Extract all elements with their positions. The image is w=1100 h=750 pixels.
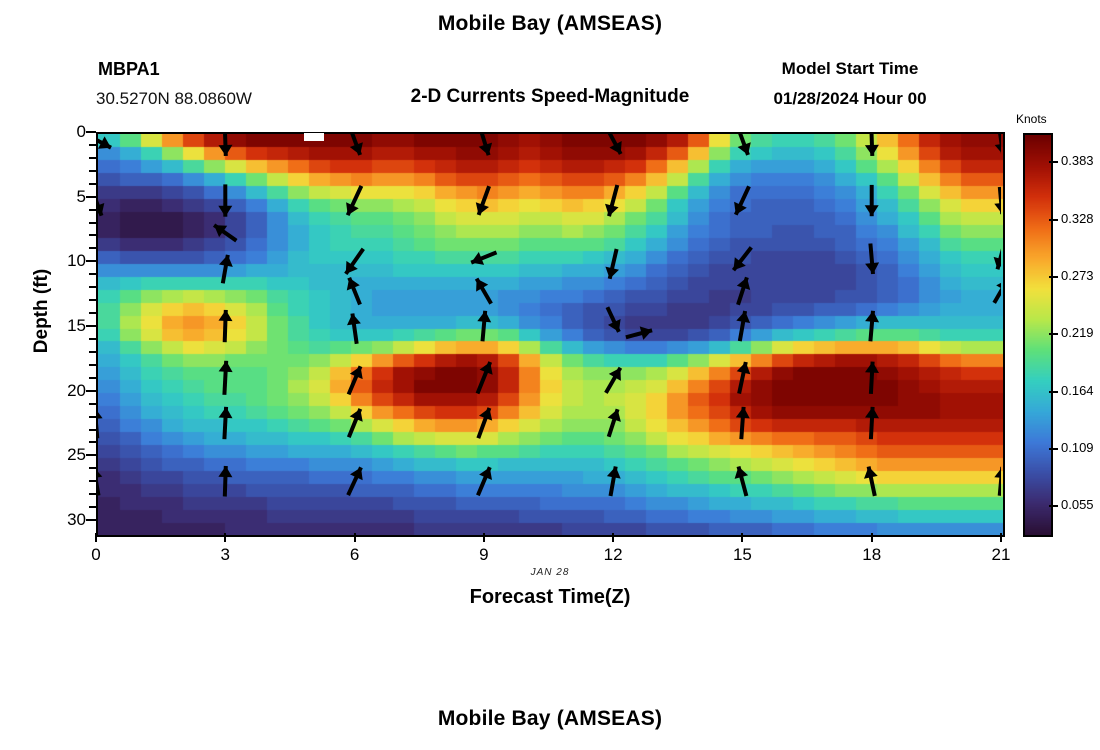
colorbar-tick-label: 0.273 xyxy=(1061,268,1094,283)
x-axis-tick-label: 15 xyxy=(712,545,772,565)
y-axis-minor-tick xyxy=(89,493,96,495)
y-axis-minor-tick xyxy=(89,338,96,340)
heatmap-plot-area xyxy=(96,132,1005,537)
y-axis-tick-mark xyxy=(86,196,96,198)
y-axis-tick-label: 5 xyxy=(40,187,86,207)
colorbar-tick-label: 0.055 xyxy=(1061,497,1094,512)
y-axis-minor-tick xyxy=(89,209,96,211)
x-axis-tick-label: 18 xyxy=(842,545,902,565)
x-axis-tick-label: 21 xyxy=(971,545,1031,565)
y-axis-minor-tick xyxy=(89,312,96,314)
y-axis-label: Depth (ft) xyxy=(31,221,53,401)
colorbar-tick-mark xyxy=(1049,448,1058,450)
x-axis-tick-label: 9 xyxy=(454,545,514,565)
y-axis-tick-label: 30 xyxy=(40,510,86,530)
y-axis-minor-tick xyxy=(89,222,96,224)
y-axis-minor-tick xyxy=(89,441,96,443)
y-axis-minor-tick xyxy=(89,377,96,379)
colorbar-tick-group: 0.0550.1090.1640.2190.2730.3280.383 xyxy=(1049,133,1099,533)
y-axis-tick-mark xyxy=(86,260,96,262)
y-axis-minor-tick xyxy=(89,234,96,236)
y-axis-tick-label: 0 xyxy=(40,122,86,142)
y-axis-tick-mark xyxy=(86,519,96,521)
bottom-title: Mobile Bay (AMSEAS) xyxy=(0,707,1100,731)
y-axis-minor-tick xyxy=(89,480,96,482)
colorbar-tick-mark xyxy=(1049,276,1058,278)
x-axis-tick-label: 12 xyxy=(583,545,643,565)
colorbar-tick-mark xyxy=(1049,391,1058,393)
y-axis-minor-tick xyxy=(89,157,96,159)
y-axis-minor-tick xyxy=(89,506,96,508)
station-id: MBPA1 xyxy=(98,59,160,80)
date-sublabel: JAN 28 xyxy=(0,567,1100,578)
colorbar-tick-mark xyxy=(1049,505,1058,507)
colorbar-tick-mark xyxy=(1049,219,1058,221)
y-axis-minor-tick xyxy=(89,183,96,185)
y-axis-tick-mark xyxy=(86,325,96,327)
y-axis-minor-tick xyxy=(89,286,96,288)
y-axis-minor-tick xyxy=(89,144,96,146)
y-axis-minor-tick xyxy=(89,416,96,418)
current-speed-heatmap xyxy=(98,134,1003,535)
model-start-time-value: 01/28/2024 Hour 00 xyxy=(700,89,1000,109)
y-axis-minor-tick xyxy=(89,403,96,405)
y-axis-minor-tick xyxy=(89,170,96,172)
y-axis-minor-tick xyxy=(89,351,96,353)
surface-gap-marker xyxy=(304,133,324,141)
x-axis-tick-label: 0 xyxy=(66,545,126,565)
y-axis-minor-tick xyxy=(89,429,96,431)
colorbar-units-label: Knots xyxy=(1016,112,1086,126)
x-axis-label: Forecast Time(Z) xyxy=(0,586,1100,609)
colorbar-tick-label: 0.164 xyxy=(1061,383,1094,398)
y-axis-minor-tick xyxy=(89,299,96,301)
colorbar-tick-mark xyxy=(1049,333,1058,335)
y-axis-tick-mark xyxy=(86,390,96,392)
x-axis-tick-label: 6 xyxy=(325,545,385,565)
y-axis-minor-tick xyxy=(89,247,96,249)
y-axis-tick-mark xyxy=(86,454,96,456)
y-axis-tick-label: 25 xyxy=(40,445,86,465)
colorbar-tick-label: 0.383 xyxy=(1061,153,1094,168)
y-axis-minor-tick xyxy=(89,467,96,469)
page-title: Mobile Bay (AMSEAS) xyxy=(0,12,1100,36)
colorbar-tick-label: 0.219 xyxy=(1061,325,1094,340)
colorbar-tick-mark xyxy=(1049,161,1058,163)
model-start-time-label: Model Start Time xyxy=(700,59,1000,79)
y-axis-minor-tick xyxy=(89,364,96,366)
colorbar-gradient xyxy=(1025,135,1051,535)
y-axis-tick-mark xyxy=(86,131,96,133)
colorbar-tick-label: 0.109 xyxy=(1061,440,1094,455)
x-axis-tick-label: 3 xyxy=(195,545,255,565)
y-axis-minor-tick xyxy=(89,273,96,275)
colorbar-tick-label: 0.328 xyxy=(1061,211,1094,226)
